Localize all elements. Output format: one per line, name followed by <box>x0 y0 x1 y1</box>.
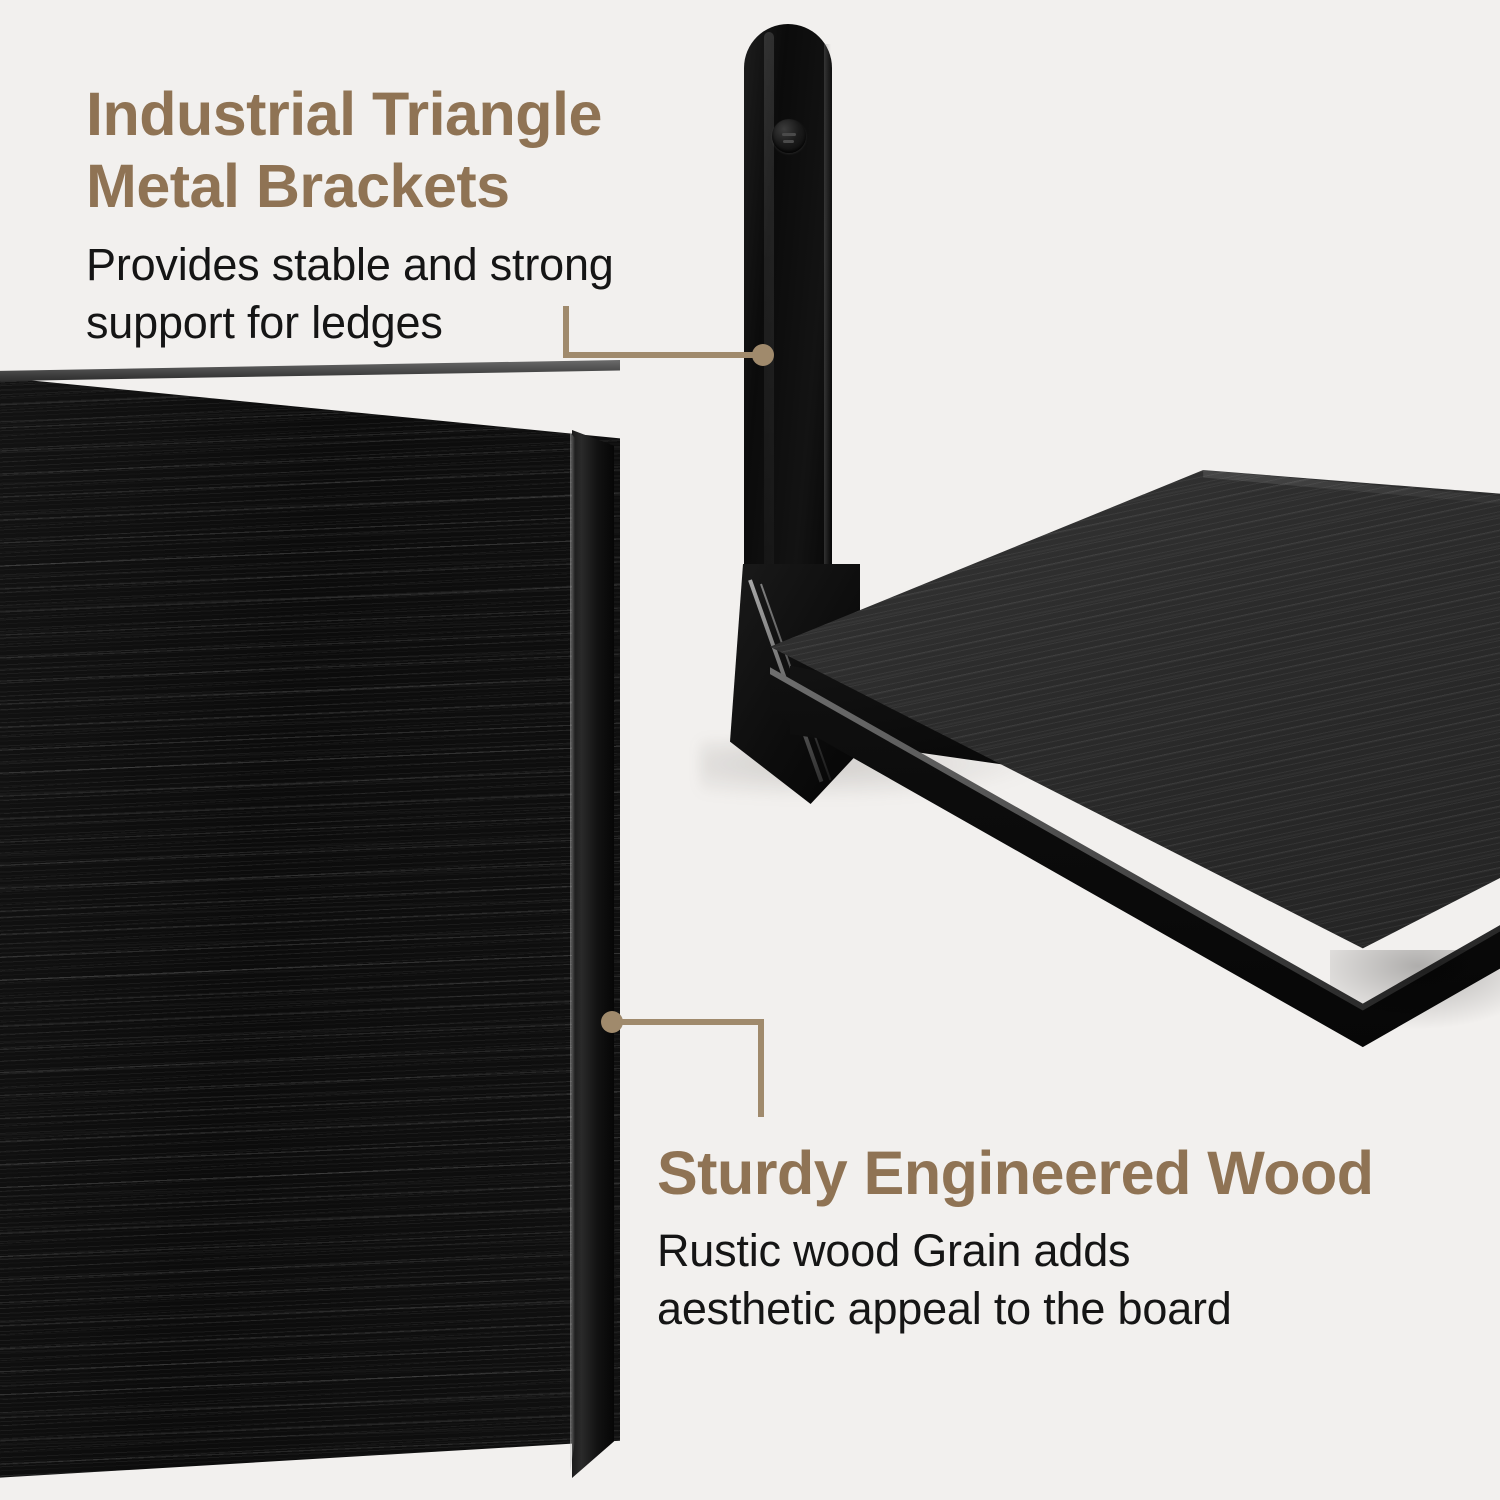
leader-segment-vertical <box>758 1019 764 1117</box>
shelf-board-image <box>770 470 1500 1050</box>
callout-engineered-wood: Sturdy Engineered Wood Rustic wood Grain… <box>657 1138 1467 1338</box>
callout-subtext-line-1: Provides stable and strong <box>86 236 786 294</box>
product-infographic: Industrial Triangle Metal Brackets Provi… <box>0 0 1500 1500</box>
callout-subtext-line-2: aesthetic appeal to the board <box>657 1280 1467 1338</box>
wood-panel-image <box>0 360 640 1480</box>
callout-subtext-line-2: support for ledges <box>86 294 786 352</box>
callout-subtext-metal-brackets: Provides stable and strong support for l… <box>86 236 786 352</box>
callout-heading-metal-brackets: Industrial Triangle Metal Brackets <box>86 78 786 222</box>
shelf-board-underside-shadow <box>1330 950 1500 1030</box>
callout-heading-line-2: Metal Brackets <box>86 150 786 222</box>
callout-heading-line-1: Industrial Triangle <box>86 78 786 150</box>
callout-subtext-engineered-wood: Rustic wood Grain adds aesthetic appeal … <box>657 1222 1467 1338</box>
callout-subtext-line-1: Rustic wood Grain adds <box>657 1222 1467 1280</box>
callout-heading-engineered-wood: Sturdy Engineered Wood <box>657 1138 1467 1208</box>
wood-grain-texture <box>0 360 620 1480</box>
wood-panel-thickness-edge <box>572 430 614 1478</box>
callout-metal-brackets: Industrial Triangle Metal Brackets Provi… <box>86 78 786 352</box>
wood-panel-edge-highlight <box>570 432 575 1472</box>
